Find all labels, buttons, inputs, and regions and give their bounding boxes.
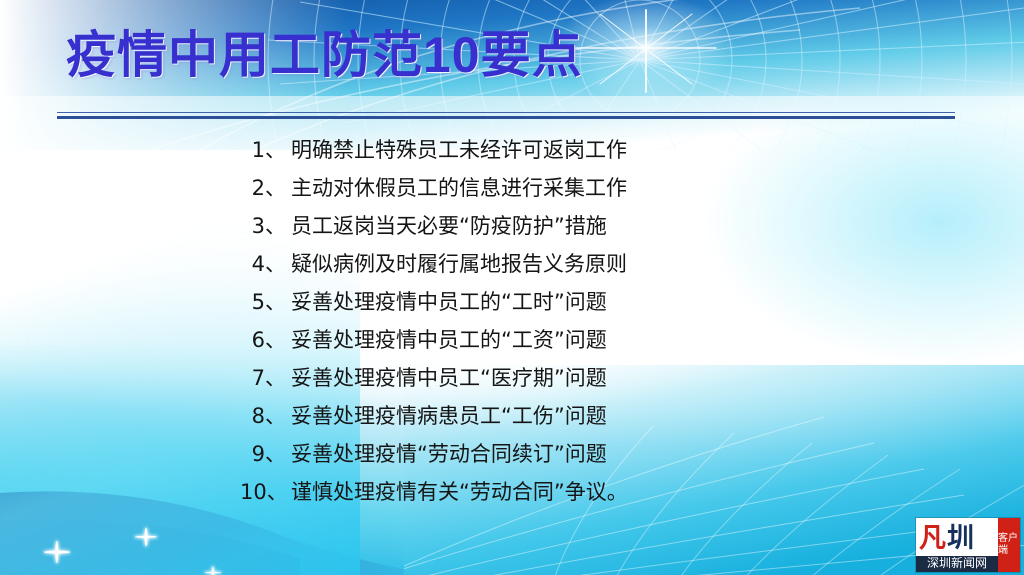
list-item: 3、 员工返岗当天必要“防疫防护”措施: [240, 210, 670, 248]
list-item-number: 1、: [240, 134, 286, 164]
page-title: 疫情中用工防范10要点: [66, 28, 583, 83]
divider-line-thin: [57, 112, 955, 113]
list-item-label: 妥善处理疫情中员工的“工资”问题: [286, 324, 607, 354]
logo-char-left: 凡: [919, 525, 946, 552]
logo-wordmark: 深圳新闻网: [916, 556, 998, 572]
sparkle-star-icon: [205, 566, 221, 575]
list-item-label: 妥善处理疫情病患员工“工伤”问题: [286, 400, 607, 430]
list-item: 10、 谨慎处理疫情有关“劳动合同”争议。: [240, 476, 670, 514]
logo-main-block: 凡 圳 深圳新闻网: [916, 518, 998, 572]
list-item-number: 8、: [240, 400, 286, 430]
logo-client-banner: 客户端: [998, 518, 1020, 572]
list-item: 8、 妥善处理疫情病患员工“工伤”问题: [240, 400, 670, 438]
presentation-slide: 疫情中用工防范10要点 1、 明确禁止特殊员工未经许可返岗工作 2、 主动对休假…: [0, 0, 1024, 575]
list-item-label: 明确禁止特殊员工未经许可返岗工作: [286, 134, 627, 164]
logo-char-right: 圳: [947, 525, 974, 552]
list-item: 1、 明确禁止特殊员工未经许可返岗工作: [240, 134, 670, 172]
list-item-number: 9、: [240, 438, 286, 468]
divider-line-thick: [57, 116, 955, 119]
list-item-number: 7、: [240, 362, 286, 392]
title-divider: [57, 112, 955, 119]
list-item-label: 主动对休假员工的信息进行采集工作: [286, 172, 627, 202]
sparkle-star-icon: [44, 541, 70, 563]
list-item-label: 谨慎处理疫情有关“劳动合同”争议。: [286, 476, 628, 506]
list-item-label: 妥善处理疫情中员工的“工时”问题: [286, 286, 607, 316]
points-list: 1、 明确禁止特殊员工未经许可返岗工作 2、 主动对休假员工的信息进行采集工作 …: [240, 134, 670, 514]
list-item-number: 6、: [240, 324, 286, 354]
sparkle-star-icon: [135, 528, 157, 546]
list-item-label: 员工返岗当天必要“防疫防护”措施: [286, 210, 607, 240]
list-item-label: 妥善处理疫情中员工“医疗期”问题: [286, 362, 607, 392]
logo-characters: 凡 圳: [916, 518, 998, 556]
watermark-logo: 凡 圳 深圳新闻网 客户端: [916, 518, 1020, 572]
list-item: 4、 疑似病例及时履行属地报告义务原则: [240, 248, 670, 286]
list-item: 6、 妥善处理疫情中员工的“工资”问题: [240, 324, 670, 362]
list-item-number: 2、: [240, 172, 286, 202]
list-item: 7、 妥善处理疫情中员工“医疗期”问题: [240, 362, 670, 400]
list-item-number: 4、: [240, 248, 286, 278]
list-item-number: 3、: [240, 210, 286, 240]
list-item: 9、 妥善处理疫情“劳动合同续订”问题: [240, 438, 670, 476]
list-item: 5、 妥善处理疫情中员工的“工时”问题: [240, 286, 670, 324]
list-item: 2、 主动对休假员工的信息进行采集工作: [240, 172, 670, 210]
list-item-number: 10、: [240, 476, 286, 506]
list-item-number: 5、: [240, 286, 286, 316]
list-item-label: 妥善处理疫情“劳动合同续订”问题: [286, 438, 607, 468]
list-item-label: 疑似病例及时履行属地报告义务原则: [286, 248, 627, 278]
